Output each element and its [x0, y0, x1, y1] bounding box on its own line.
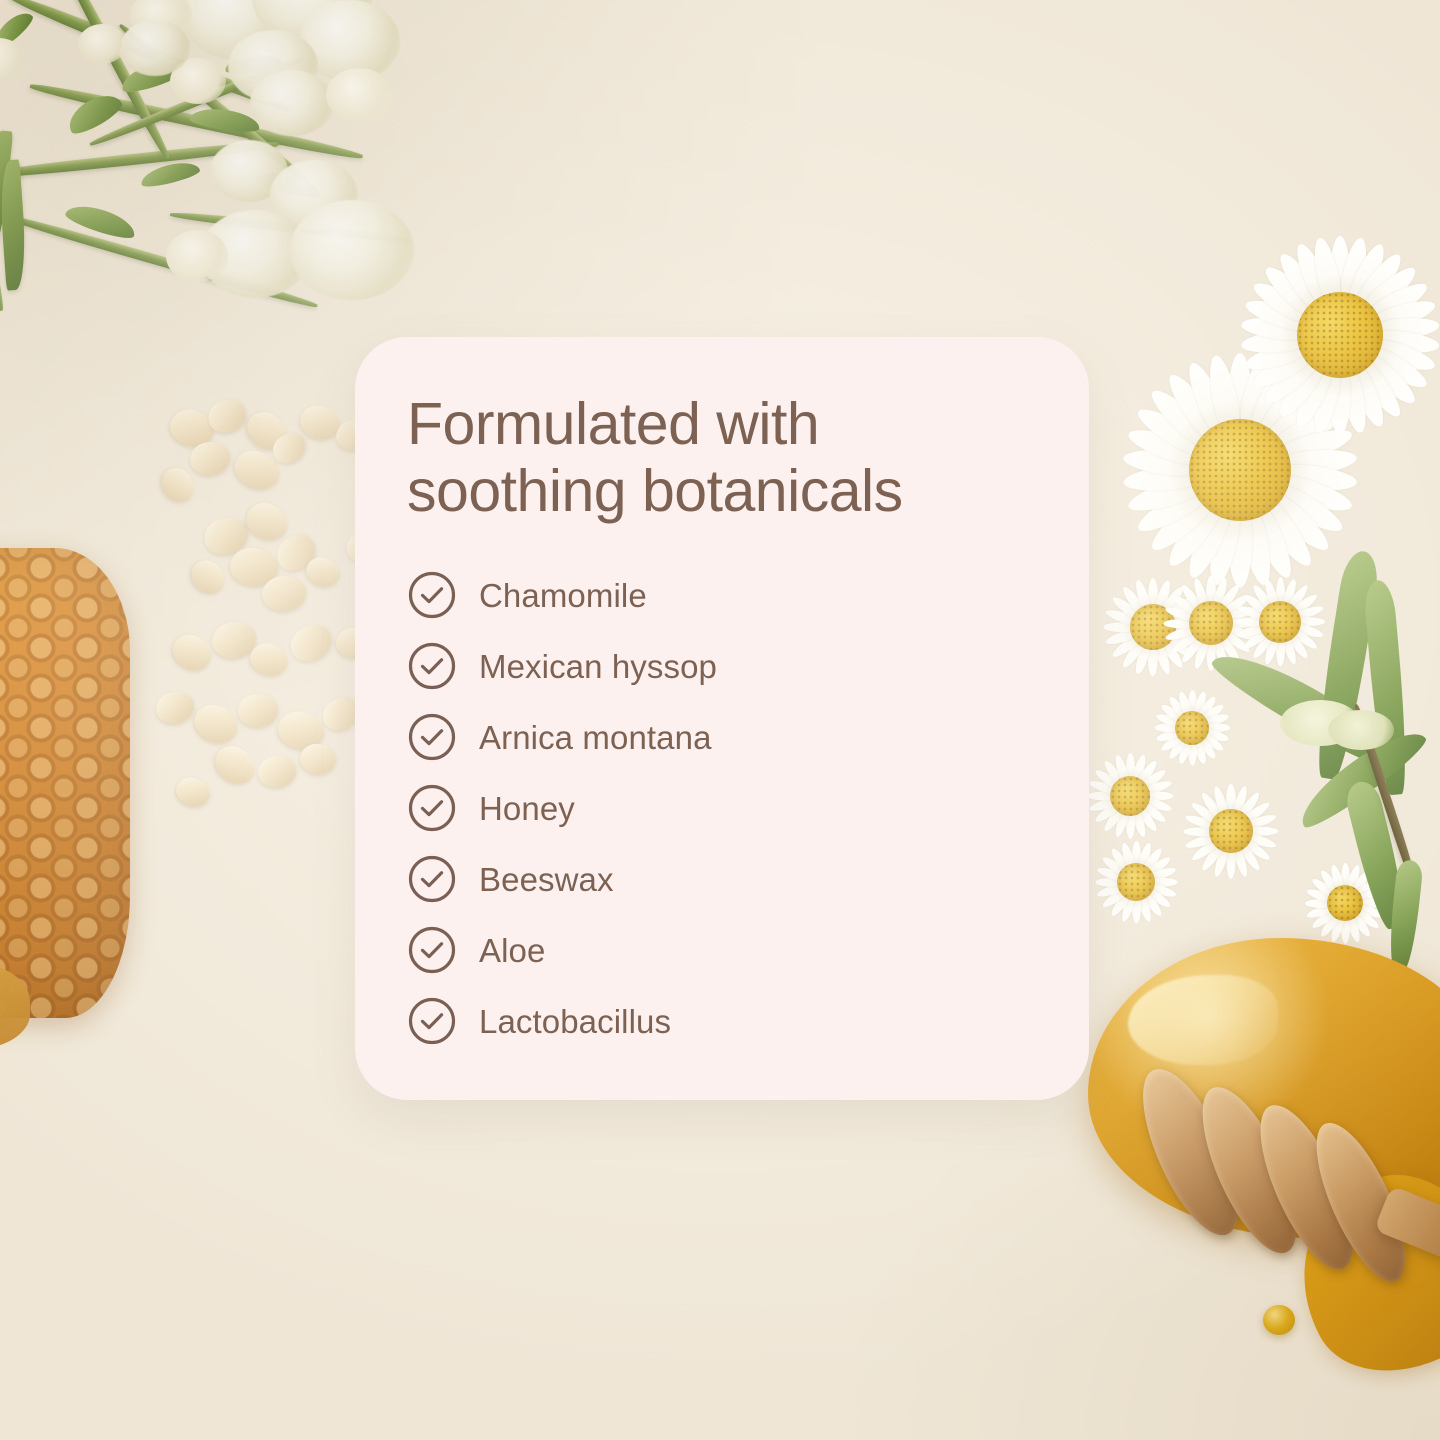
daisy-petal	[1206, 639, 1215, 671]
chamomile-flower-2	[1158, 570, 1264, 676]
daisy-petal	[1244, 358, 1299, 441]
daisy-petal	[1250, 583, 1275, 612]
daisy-petal	[1119, 841, 1136, 870]
daisy-petal	[1290, 359, 1337, 430]
ingredients-card: Formulated with soothing botanicals Cham…	[355, 337, 1089, 1100]
daisy-petal	[1285, 632, 1310, 661]
daisy-petal	[1305, 899, 1333, 908]
daisy-petal	[1350, 249, 1407, 316]
daisy-petal	[1170, 628, 1201, 654]
daisy-petal	[1133, 579, 1152, 613]
daisy-petal	[1225, 623, 1258, 642]
daisy-petal	[1148, 882, 1177, 899]
daisy-petal	[1199, 702, 1225, 724]
daisy-petal	[1212, 784, 1231, 817]
daisy-petal	[1211, 576, 1230, 609]
daisy-petal	[1145, 486, 1221, 558]
daisy-petal	[1110, 633, 1142, 660]
daisy-petal	[1249, 276, 1318, 328]
daisy-petal	[1309, 363, 1343, 434]
daisy-petal	[1350, 354, 1407, 421]
daisy-petal	[1112, 808, 1129, 838]
daisy-petal	[1188, 740, 1197, 766]
green-leaves	[1160, 560, 1440, 980]
daisy-petal	[1144, 792, 1173, 801]
daisy-petal	[1328, 914, 1345, 943]
daisy-petal	[1259, 261, 1323, 322]
daisy-petal	[1166, 735, 1188, 761]
daisy-petal	[1273, 249, 1330, 316]
daisy-flower-large	[1110, 340, 1370, 600]
ingredient-label: Mexican hyssop	[479, 650, 717, 683]
honeycomb-tail	[0, 960, 30, 1050]
daisy-petal	[1140, 890, 1163, 918]
daisy-petal	[1275, 462, 1358, 494]
daisy-petal	[1276, 637, 1285, 667]
daisy-petal	[1126, 810, 1135, 839]
daisy-petal	[1150, 878, 1178, 887]
daisy-petal	[1088, 796, 1118, 813]
daisy-petal	[1142, 778, 1172, 795]
daisy-petal	[1088, 778, 1118, 795]
ingredient-label: Honey	[479, 792, 575, 825]
daisy-petal	[1136, 841, 1153, 870]
ingredient-item: Chamomile	[407, 560, 1041, 631]
daisy-petal	[1179, 633, 1205, 664]
daisy-petal	[1105, 627, 1139, 646]
daisy-petal	[1142, 796, 1172, 813]
daisy-petal	[1362, 342, 1431, 394]
daisy-petal	[1328, 863, 1345, 892]
daisy-petal	[1259, 348, 1323, 409]
daisy-petal	[1176, 738, 1192, 765]
daisy-petal	[1309, 236, 1343, 307]
daisy-petal	[1133, 641, 1152, 675]
daisy-petal	[1305, 903, 1334, 920]
daisy-petal	[1126, 753, 1135, 782]
daisy-petal	[1358, 899, 1386, 908]
ingredient-item: Mexican hyssop	[407, 631, 1041, 702]
daisy-petal	[1154, 724, 1180, 733]
daisy-petal	[1356, 886, 1385, 903]
daisy-petal	[1271, 422, 1355, 470]
product-ingredient-graphic: Formulated with soothing botanicals Cham…	[0, 0, 1440, 1440]
daisy-petal	[1095, 865, 1124, 882]
daisy-petal	[1356, 903, 1385, 920]
ingredient-item: Lactobacillus	[407, 986, 1041, 1057]
ingredient-item: Beeswax	[407, 844, 1041, 915]
daisy-petal	[1228, 353, 1252, 434]
honey-pool	[1088, 938, 1440, 1238]
chamomile-flower-8	[1150, 686, 1234, 770]
daisy-petal	[1226, 847, 1235, 879]
daisy-petal	[1271, 470, 1355, 518]
daisy-petal	[1132, 841, 1141, 869]
daisy-petal	[1225, 604, 1258, 623]
daisy-petal	[1110, 594, 1142, 621]
daisy-petal	[1144, 886, 1172, 909]
daisy-petal	[1108, 846, 1131, 874]
daisy-petal	[1087, 792, 1116, 801]
daisy-petal	[1192, 576, 1211, 609]
daisy-petal	[1176, 691, 1192, 718]
daisy-petal	[1192, 637, 1211, 670]
daisy-petal	[1250, 632, 1275, 661]
check-circle-icon	[407, 570, 457, 620]
daisy-petal	[1318, 911, 1341, 939]
daisy-petal	[1290, 627, 1319, 652]
daisy-petal	[1153, 641, 1172, 675]
daisy-petal	[1139, 801, 1167, 825]
daisy-petal	[1136, 894, 1153, 923]
daisy-petal	[1236, 503, 1276, 587]
check-circle-icon	[407, 854, 457, 904]
daisy-petal	[1362, 276, 1431, 328]
daisy-petal	[1235, 618, 1265, 627]
daisy-petal	[1236, 604, 1267, 622]
chamomile-flower-5	[1178, 778, 1284, 884]
check-circle-icon	[407, 996, 457, 1046]
daisy-petal	[1108, 890, 1131, 918]
daisy-petal	[1184, 812, 1217, 831]
daisy-petal	[1366, 335, 1437, 376]
ingredient-label: Aloe	[479, 934, 545, 967]
oat-flakes	[150, 400, 380, 870]
ingredient-label: Chamomile	[479, 579, 647, 612]
chamomile-flower-6	[1090, 836, 1182, 928]
daisy-petal	[1101, 759, 1125, 787]
daisy-petal	[1349, 911, 1372, 939]
honey-dipper	[1140, 1020, 1440, 1320]
daisy-petal	[1105, 607, 1139, 626]
daisy-flower-upper	[1230, 225, 1440, 445]
daisy-petal	[1132, 478, 1214, 539]
daisy-petal	[1244, 499, 1299, 582]
daisy-petal	[1132, 401, 1214, 462]
daisy-petal	[1125, 422, 1209, 470]
daisy-petal	[1221, 628, 1252, 654]
daisy-petal	[1132, 896, 1141, 924]
daisy-petal	[1196, 695, 1218, 721]
daisy-petal	[1135, 759, 1159, 787]
daisy-petal	[1356, 348, 1420, 409]
daisy-petal	[1241, 592, 1270, 617]
daisy-petal	[1216, 582, 1242, 613]
daisy-petal	[1262, 635, 1280, 666]
daisy-petal	[1104, 622, 1137, 632]
honey-trail	[1267, 1147, 1440, 1404]
daisy-petal	[1290, 592, 1319, 617]
daisy-petal	[1252, 493, 1319, 572]
daisy-petal	[1192, 738, 1208, 765]
daisy-petal	[1318, 868, 1341, 896]
daisy-petal	[1170, 622, 1203, 632]
check-circle-icon	[407, 712, 457, 762]
daisy-petal	[1155, 728, 1182, 744]
daisy-petal	[1295, 618, 1325, 627]
daisy-petal	[1093, 801, 1121, 825]
check-circle-icon	[407, 641, 457, 691]
daisy-petal	[1130, 754, 1147, 784]
honey-droplet	[1263, 1305, 1295, 1335]
daisy-petal	[1252, 368, 1319, 447]
daisy-petal	[1181, 499, 1236, 582]
daisy-petal	[1231, 845, 1250, 878]
daisy-petal	[1236, 790, 1262, 821]
daisy-petal	[1153, 579, 1172, 613]
daisy-petal	[1188, 690, 1197, 716]
daisy-petal	[1305, 886, 1334, 903]
daisy-petal	[1164, 594, 1196, 621]
daisy-petal	[1130, 808, 1147, 838]
daisy-petal	[1190, 799, 1221, 825]
daisy-petal	[1122, 462, 1205, 494]
daisy-petal	[1204, 724, 1230, 733]
daisy-petal	[1341, 916, 1350, 944]
daisy-petal	[1125, 470, 1209, 518]
daisy-petal	[1221, 591, 1252, 617]
daisy-petal	[1241, 836, 1272, 862]
daisy-petal	[1280, 635, 1298, 666]
daisy-petal	[1310, 907, 1338, 930]
daisy-petal	[1236, 841, 1262, 872]
daisy-petal	[1343, 359, 1390, 430]
daisy-petal	[1240, 314, 1310, 342]
daisy-petal	[1245, 812, 1278, 831]
check-circle-icon	[407, 925, 457, 975]
daisy-petal	[1247, 826, 1279, 835]
daisy-petal	[1228, 507, 1252, 588]
daisy-petal	[1164, 633, 1196, 660]
honeycomb	[0, 548, 130, 1018]
daisy-petal	[1095, 878, 1123, 887]
daisy-petal	[1159, 732, 1185, 754]
daisy-petal	[1249, 342, 1318, 394]
daisy-petal	[1093, 767, 1121, 791]
daisy-petal	[1236, 353, 1276, 437]
daisy-petal	[1343, 240, 1390, 311]
daisy-petal	[1273, 354, 1330, 421]
daisy-petal	[1330, 366, 1351, 434]
daisy-petal	[1167, 627, 1201, 646]
daisy-petal	[1280, 578, 1298, 609]
daisy-petal	[1140, 846, 1163, 874]
daisy-petal	[1202, 728, 1229, 744]
daisy-petal	[1216, 633, 1242, 664]
daisy-petal	[1336, 236, 1370, 307]
daisy-petal	[1159, 702, 1185, 724]
greenery-sprig	[0, 0, 490, 380]
daisy-petal	[1184, 831, 1217, 850]
daisy-petal	[1101, 805, 1125, 833]
daisy-petal	[1164, 618, 1196, 627]
daisy-petal	[1370, 314, 1440, 342]
daisy-petal	[1199, 732, 1225, 754]
daisy-petal	[1240, 328, 1310, 356]
daisy-petal	[1184, 826, 1216, 835]
daisy-petal	[1139, 767, 1167, 791]
daisy-petal	[1356, 261, 1420, 322]
daisy-petal	[1196, 735, 1218, 761]
daisy-petal	[1212, 845, 1231, 878]
daisy-petal	[1170, 591, 1201, 617]
daisy-petal	[1164, 604, 1197, 623]
honey-pool-highlight	[1128, 975, 1278, 1065]
daisy-petal	[1161, 493, 1228, 572]
daisy-petal	[1226, 784, 1235, 816]
daisy-petal	[1119, 894, 1136, 923]
daisy-petal	[1155, 712, 1182, 728]
daisy-petal	[1122, 446, 1205, 478]
daisy-petal	[1148, 644, 1158, 677]
daisy-petal	[1190, 836, 1221, 862]
daisy-petal	[1266, 401, 1348, 462]
ingredient-item: Aloe	[407, 915, 1041, 986]
daisy-petal	[1120, 584, 1147, 616]
daisy-petal	[1159, 584, 1186, 616]
daisy-petal	[1341, 863, 1350, 891]
daisy-petal	[1199, 841, 1225, 872]
daisy-petal	[1204, 353, 1244, 437]
daisy-petal	[1310, 876, 1338, 899]
daisy-petal	[1166, 695, 1188, 721]
daisy-petal	[1120, 638, 1147, 670]
daisy-petal	[1293, 604, 1324, 622]
daisy-petal	[1242, 295, 1313, 336]
daisy-petal	[1159, 638, 1186, 670]
daisy-petal	[1245, 831, 1278, 850]
daisy-petal	[1202, 712, 1229, 728]
daisy-petal	[1276, 577, 1285, 607]
daisy-petal	[1290, 240, 1337, 311]
daisy-petal	[1370, 328, 1440, 356]
daisy-petal	[1241, 799, 1272, 825]
ingredient-label: Beeswax	[479, 863, 614, 896]
daisy-petal	[1345, 914, 1362, 943]
daisy-petal	[1345, 863, 1362, 892]
chamomile-flower-7	[1300, 858, 1390, 948]
daisy-petal	[1330, 236, 1351, 304]
daisy-petal	[1179, 582, 1205, 613]
daisy-petal	[1349, 868, 1372, 896]
daisy-petal	[1145, 383, 1221, 455]
daisy-petal	[1181, 358, 1236, 441]
daisy-petal	[1144, 854, 1172, 877]
daisy-petal	[1112, 754, 1129, 784]
page-title: Formulated with soothing botanicals	[407, 391, 1041, 526]
daisy-petal	[1259, 486, 1335, 558]
ingredient-item: Arnica montana	[407, 702, 1041, 773]
daisy-petal	[1353, 876, 1381, 899]
daisy-petal	[1293, 622, 1324, 640]
daisy-petal	[1231, 784, 1250, 817]
chamomile-flower-3	[1230, 572, 1330, 672]
daisy-petal	[1206, 576, 1215, 608]
ingredient-label: Lactobacillus	[479, 1005, 671, 1038]
daisy-petal	[1285, 583, 1310, 612]
daisy-petal	[1259, 383, 1335, 455]
daisy-petal	[1100, 886, 1128, 909]
ingredient-item: Honey	[407, 773, 1041, 844]
daisy-petal	[1227, 618, 1259, 627]
daisy-petal	[1100, 854, 1128, 877]
ingredient-label: Arnica montana	[479, 721, 712, 754]
daisy-petal	[1095, 882, 1124, 899]
daisy-petal	[1199, 790, 1225, 821]
daisy-petal	[1167, 607, 1201, 626]
daisy-petal	[1262, 578, 1280, 609]
check-circle-icon	[407, 783, 457, 833]
daisy-petal	[1336, 363, 1370, 434]
daisy-petal	[1148, 865, 1177, 882]
chamomile-flower-4	[1082, 748, 1178, 844]
daisy-petal	[1241, 627, 1270, 652]
daisy-petal	[1204, 503, 1244, 587]
chamomile-flower-1	[1098, 572, 1208, 682]
daisy-petal	[1236, 622, 1267, 640]
daisy-petal	[1366, 295, 1437, 336]
daisy-petal	[1164, 623, 1197, 642]
daisy-petal	[1161, 368, 1228, 447]
daisy-petal	[1266, 478, 1348, 539]
daisy-petal	[1192, 691, 1208, 718]
daisy-petal	[1353, 907, 1381, 930]
daisy-petal	[1211, 637, 1230, 670]
daisy-petal	[1275, 446, 1358, 478]
daisy-petal	[1242, 335, 1313, 376]
ingredient-list: ChamomileMexican hyssopArnica montanaHon…	[407, 560, 1041, 1057]
daisy-petal	[1135, 805, 1159, 833]
daisy-petal	[1148, 578, 1158, 611]
